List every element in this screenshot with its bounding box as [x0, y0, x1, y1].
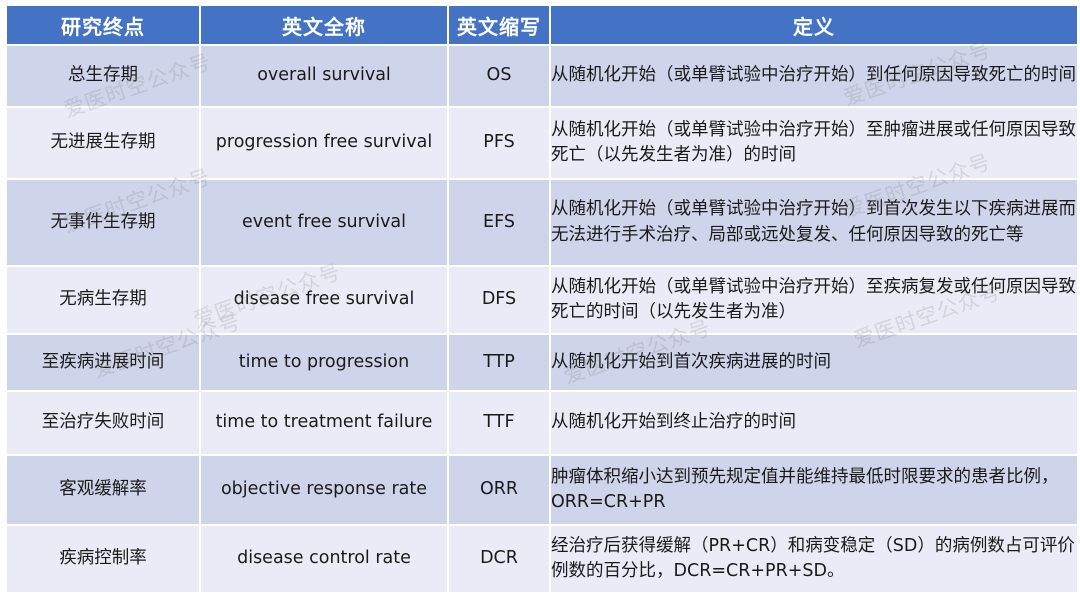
- cell-abbreviation: TTF: [449, 392, 549, 454]
- table-row: 疾病控制率 disease control rate DCR 经治疗后获得缓解（…: [7, 526, 1077, 592]
- column-header-term: 研究终点: [7, 6, 199, 44]
- cell-term: 客观缓解率: [7, 456, 199, 524]
- cell-abbreviation: OS: [449, 46, 549, 106]
- table-row: 总生存期 overall survival OS 从随机化开始（或单臂试验中治疗…: [7, 46, 1077, 106]
- cell-abbreviation: TTP: [449, 335, 549, 390]
- cell-term: 无进展生存期: [7, 108, 199, 178]
- cell-definition: 从随机化开始到首次疾病进展的时间: [551, 335, 1077, 390]
- cell-abbreviation: DFS: [449, 267, 549, 333]
- column-header-abbreviation: 英文缩写: [449, 6, 549, 44]
- cell-term: 总生存期: [7, 46, 199, 106]
- document-page: 爱医时空公众号 爱医时空公众号 爱医时空公众号 爱医时空公众号 爱医时空公众号 …: [0, 0, 1080, 583]
- table-row: 无事件生存期 event free survival EFS 从随机化开始（或单…: [7, 180, 1077, 265]
- header-row: 研究终点 英文全称 英文缩写 定义: [7, 6, 1077, 44]
- cell-definition: 经治疗后获得缓解（PR+CR）和病变稳定（SD）的病例数占可评价例数的百分比，D…: [551, 526, 1077, 592]
- cell-term: 至治疗失败时间: [7, 392, 199, 454]
- cell-definition: 从随机化开始（或单臂试验中治疗开始）到首次发生以下疾病进展而无法进行手术治疗、局…: [551, 180, 1077, 265]
- column-header-definition: 定义: [551, 6, 1077, 44]
- cell-definition: 从随机化开始（或单臂试验中治疗开始）至疾病复发或任何原因导致死亡的时间（以先发生…: [551, 267, 1077, 333]
- cell-full-name: event free survival: [201, 180, 447, 265]
- cell-term: 无病生存期: [7, 267, 199, 333]
- table-row: 客观缓解率 objective response rate ORR 肿瘤体积缩小…: [7, 456, 1077, 524]
- cell-definition: 从随机化开始（或单臂试验中治疗开始）至肿瘤进展或任何原因导致死亡（以先发生者为准…: [551, 108, 1077, 178]
- table-row: 无病生存期 disease free survival DFS 从随机化开始（或…: [7, 267, 1077, 333]
- column-header-full-name: 英文全称: [201, 6, 447, 44]
- cell-definition: 从随机化开始（或单臂试验中治疗开始）到任何原因导致死亡的时间: [551, 46, 1077, 106]
- cell-term: 无事件生存期: [7, 180, 199, 265]
- table-row: 至治疗失败时间 time to treatment failure TTF 从随…: [7, 392, 1077, 454]
- cell-term: 至疾病进展时间: [7, 335, 199, 390]
- cell-abbreviation: ORR: [449, 456, 549, 524]
- cell-definition: 肿瘤体积缩小达到预先规定值并能维持最低时限要求的患者比例，ORR=CR+PR: [551, 456, 1077, 524]
- cell-abbreviation: PFS: [449, 108, 549, 178]
- cell-full-name: time to progression: [201, 335, 447, 390]
- cell-full-name: disease free survival: [201, 267, 447, 333]
- cell-full-name: progression free survival: [201, 108, 447, 178]
- cell-abbreviation: EFS: [449, 180, 549, 265]
- cell-full-name: overall survival: [201, 46, 447, 106]
- table-row: 无进展生存期 progression free survival PFS 从随机…: [7, 108, 1077, 178]
- cell-full-name: time to treatment failure: [201, 392, 447, 454]
- clinical-endpoints-table: 研究终点 英文全称 英文缩写 定义 总生存期 overall survival …: [5, 4, 1079, 594]
- cell-definition: 从随机化开始到终止治疗的时间: [551, 392, 1077, 454]
- table-header: 研究终点 英文全称 英文缩写 定义: [7, 6, 1077, 44]
- cell-abbreviation: DCR: [449, 526, 549, 592]
- cell-full-name: disease control rate: [201, 526, 447, 592]
- table-row: 至疾病进展时间 time to progression TTP 从随机化开始到首…: [7, 335, 1077, 390]
- cell-term: 疾病控制率: [7, 526, 199, 592]
- cell-full-name: objective response rate: [201, 456, 447, 524]
- table-body: 总生存期 overall survival OS 从随机化开始（或单臂试验中治疗…: [7, 46, 1077, 592]
